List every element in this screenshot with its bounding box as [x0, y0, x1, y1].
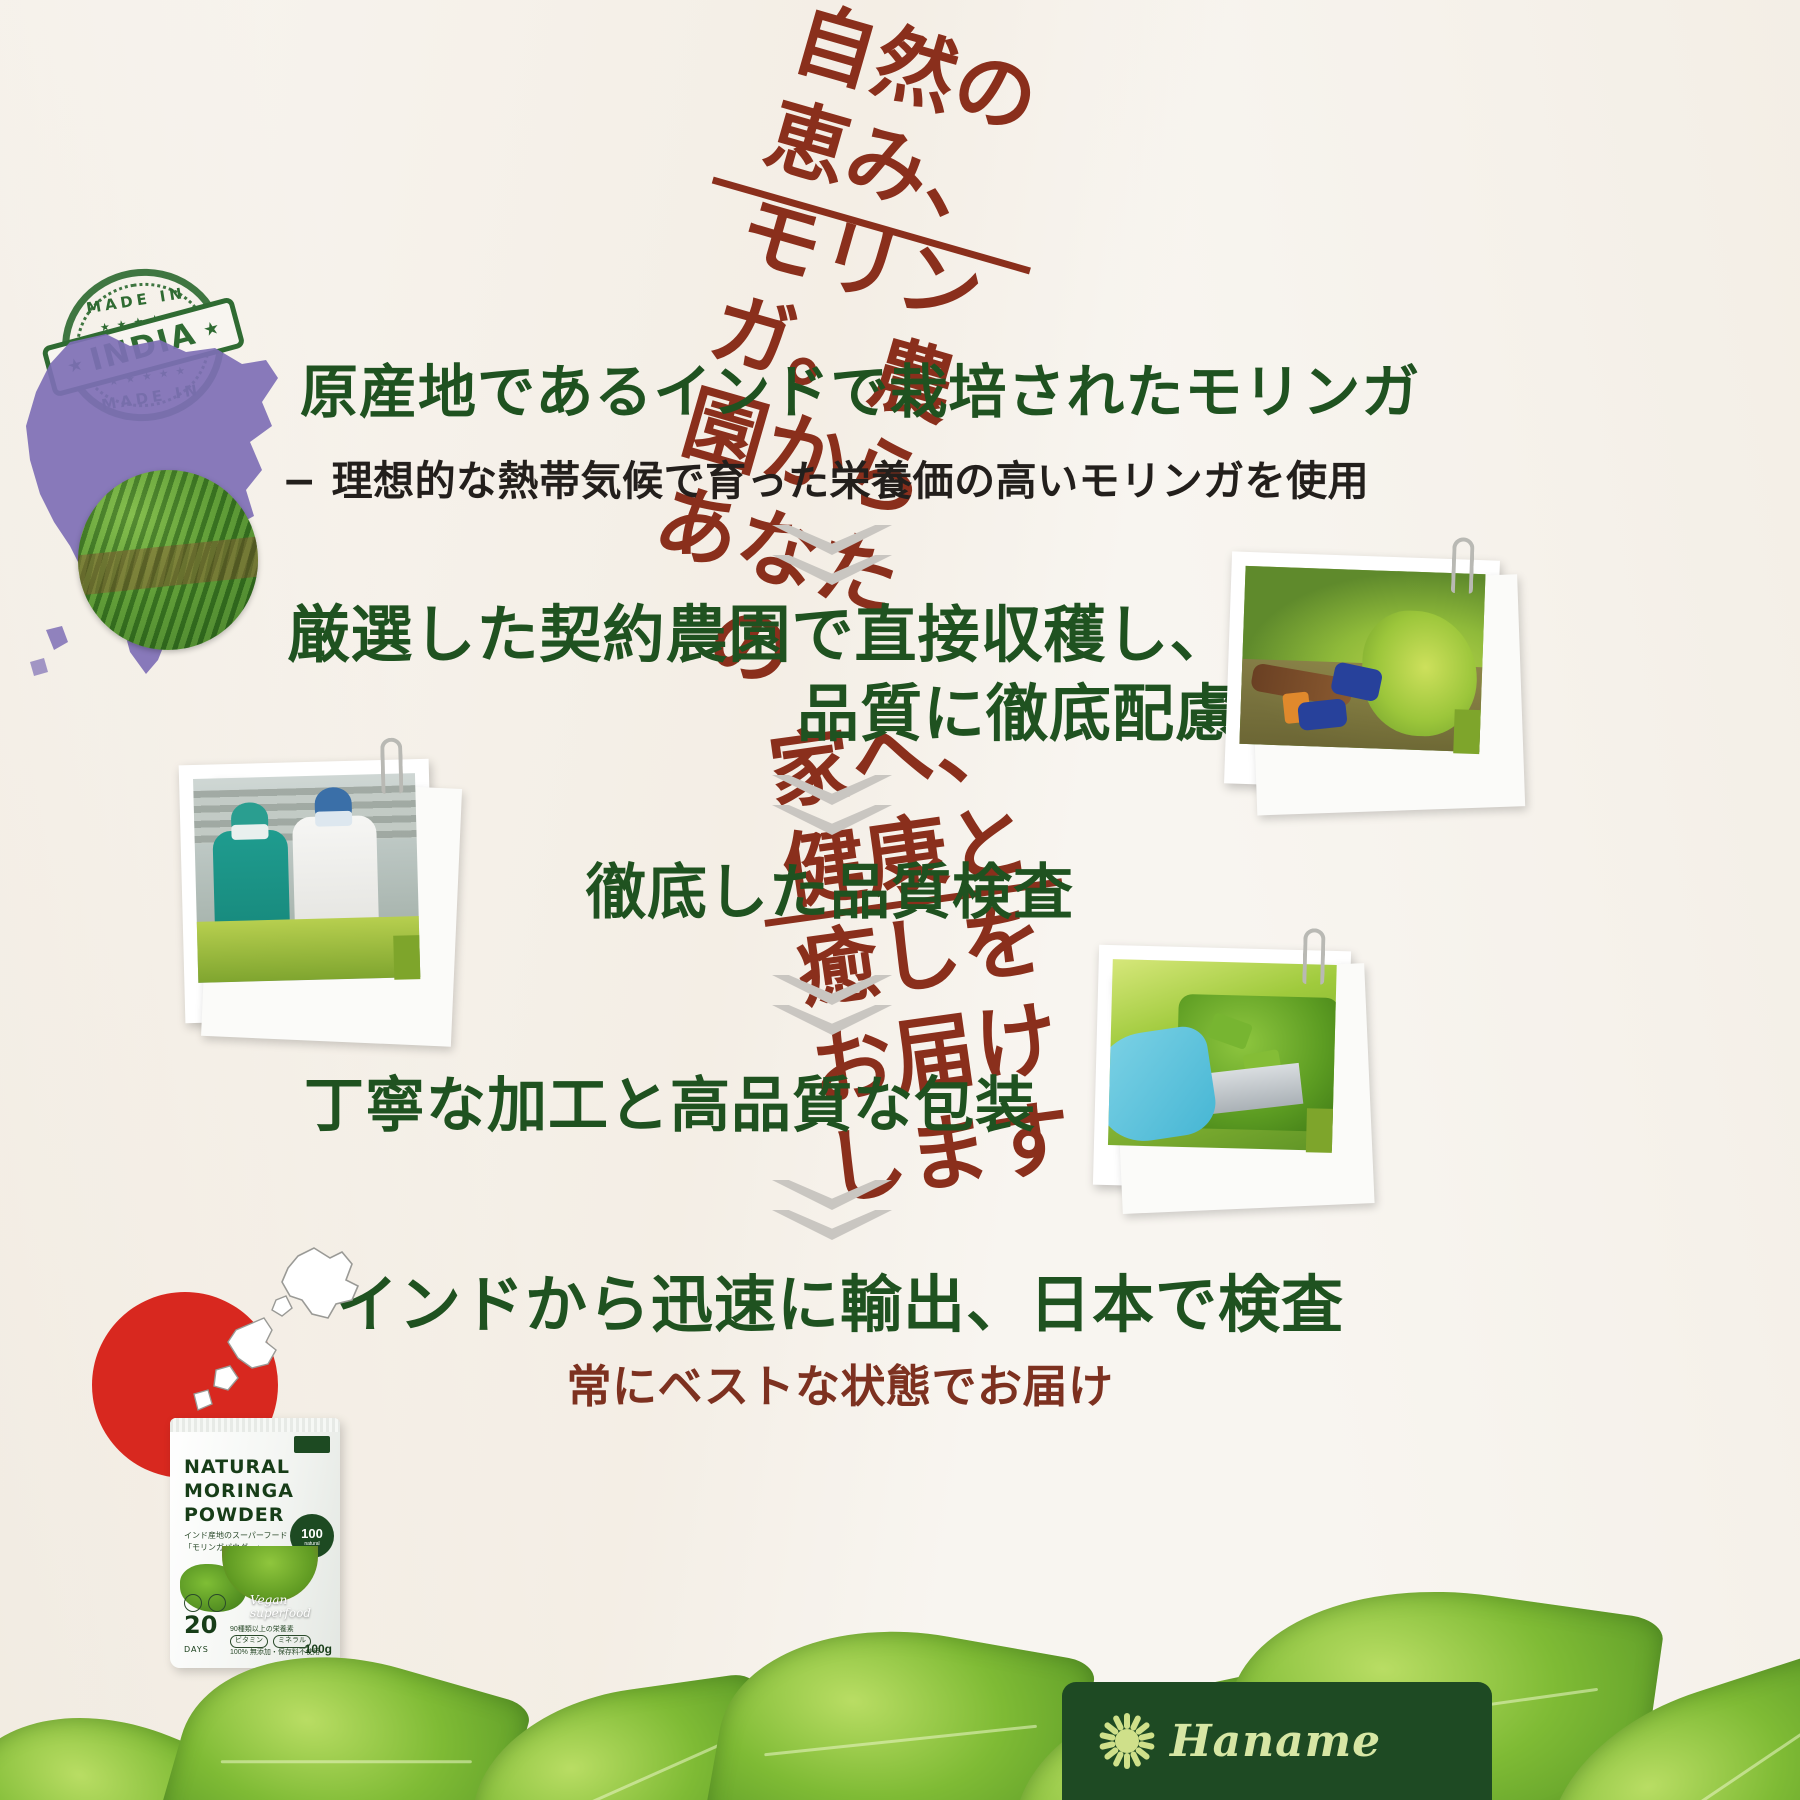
- photo-powder-image: [1108, 959, 1337, 1151]
- chevron-down-icon-2: [772, 775, 892, 853]
- step-4-heading: 丁寧な加工と高品質な包装: [250, 1068, 1090, 1145]
- brand-logo-box: Haname: [1062, 1682, 1492, 1800]
- photo-factory-workers: [179, 759, 436, 1023]
- india-farm-photo: [78, 470, 258, 650]
- photo-green-tag-2: [393, 935, 420, 980]
- brand-name: Haname: [1170, 1716, 1381, 1767]
- title-line-1: 自然の恵み、モリンガ。農園からあなたの: [712, 0, 1088, 274]
- sun-ray-icon: [1124, 1713, 1130, 1729]
- chevron-down-icon-1: [772, 525, 892, 603]
- chevron-down-icon-4: [772, 1180, 892, 1258]
- photo-harvesting: [1224, 551, 1500, 792]
- step-3-heading: 徹底した品質検査: [470, 855, 1190, 932]
- photo-harvesting-image: [1239, 566, 1485, 752]
- photo-factory-image: [193, 773, 420, 983]
- step-2-heading-line-2: 品質に徹底配慮: [260, 674, 1260, 753]
- pouch-top-seal: [170, 1418, 340, 1432]
- pouch-brand-chip-icon: [294, 1436, 330, 1453]
- japan-map-icon: [180, 1238, 380, 1438]
- poster-canvas: 自然の恵み、モリンガ。農園からあなたの 家へ、健康と癒しをお届けします MADE…: [0, 0, 1800, 1800]
- chevron-down-icon-3: [772, 975, 892, 1053]
- step-1-subtext: − 理想的な熱帯気候で育った栄養価の高いモリンガを使用: [282, 447, 1522, 507]
- paper-clip-icon-2: [380, 737, 403, 794]
- sun-flower-icon: [1098, 1712, 1156, 1770]
- photo-green-tag-1: [1453, 709, 1481, 754]
- step-1-heading: 原産地であるインドで栽培されたモリンガ: [300, 355, 1530, 429]
- paper-clip-icon-3: [1302, 928, 1325, 985]
- photo-green-tag-3: [1306, 1108, 1333, 1153]
- photo-green-powder: [1093, 945, 1351, 1192]
- leaf-icon-1: [157, 1616, 533, 1800]
- step-5-heading: インドから迅速に輸出、日本で検査: [300, 1265, 1380, 1344]
- step-2-heading: 厳選した契約農園で直接収穫し、 品質に徹底配慮: [260, 595, 1260, 754]
- paper-clip-icon-1: [1451, 537, 1475, 594]
- step-2-heading-line-1: 厳選した契約農園で直接収穫し、: [260, 595, 1260, 674]
- bottom-leaves-decoration: [0, 1470, 1800, 1800]
- sun-ray-icon: [1124, 1753, 1130, 1769]
- step-5-subtext: 常にベストな状態でお届け: [300, 1350, 1380, 1415]
